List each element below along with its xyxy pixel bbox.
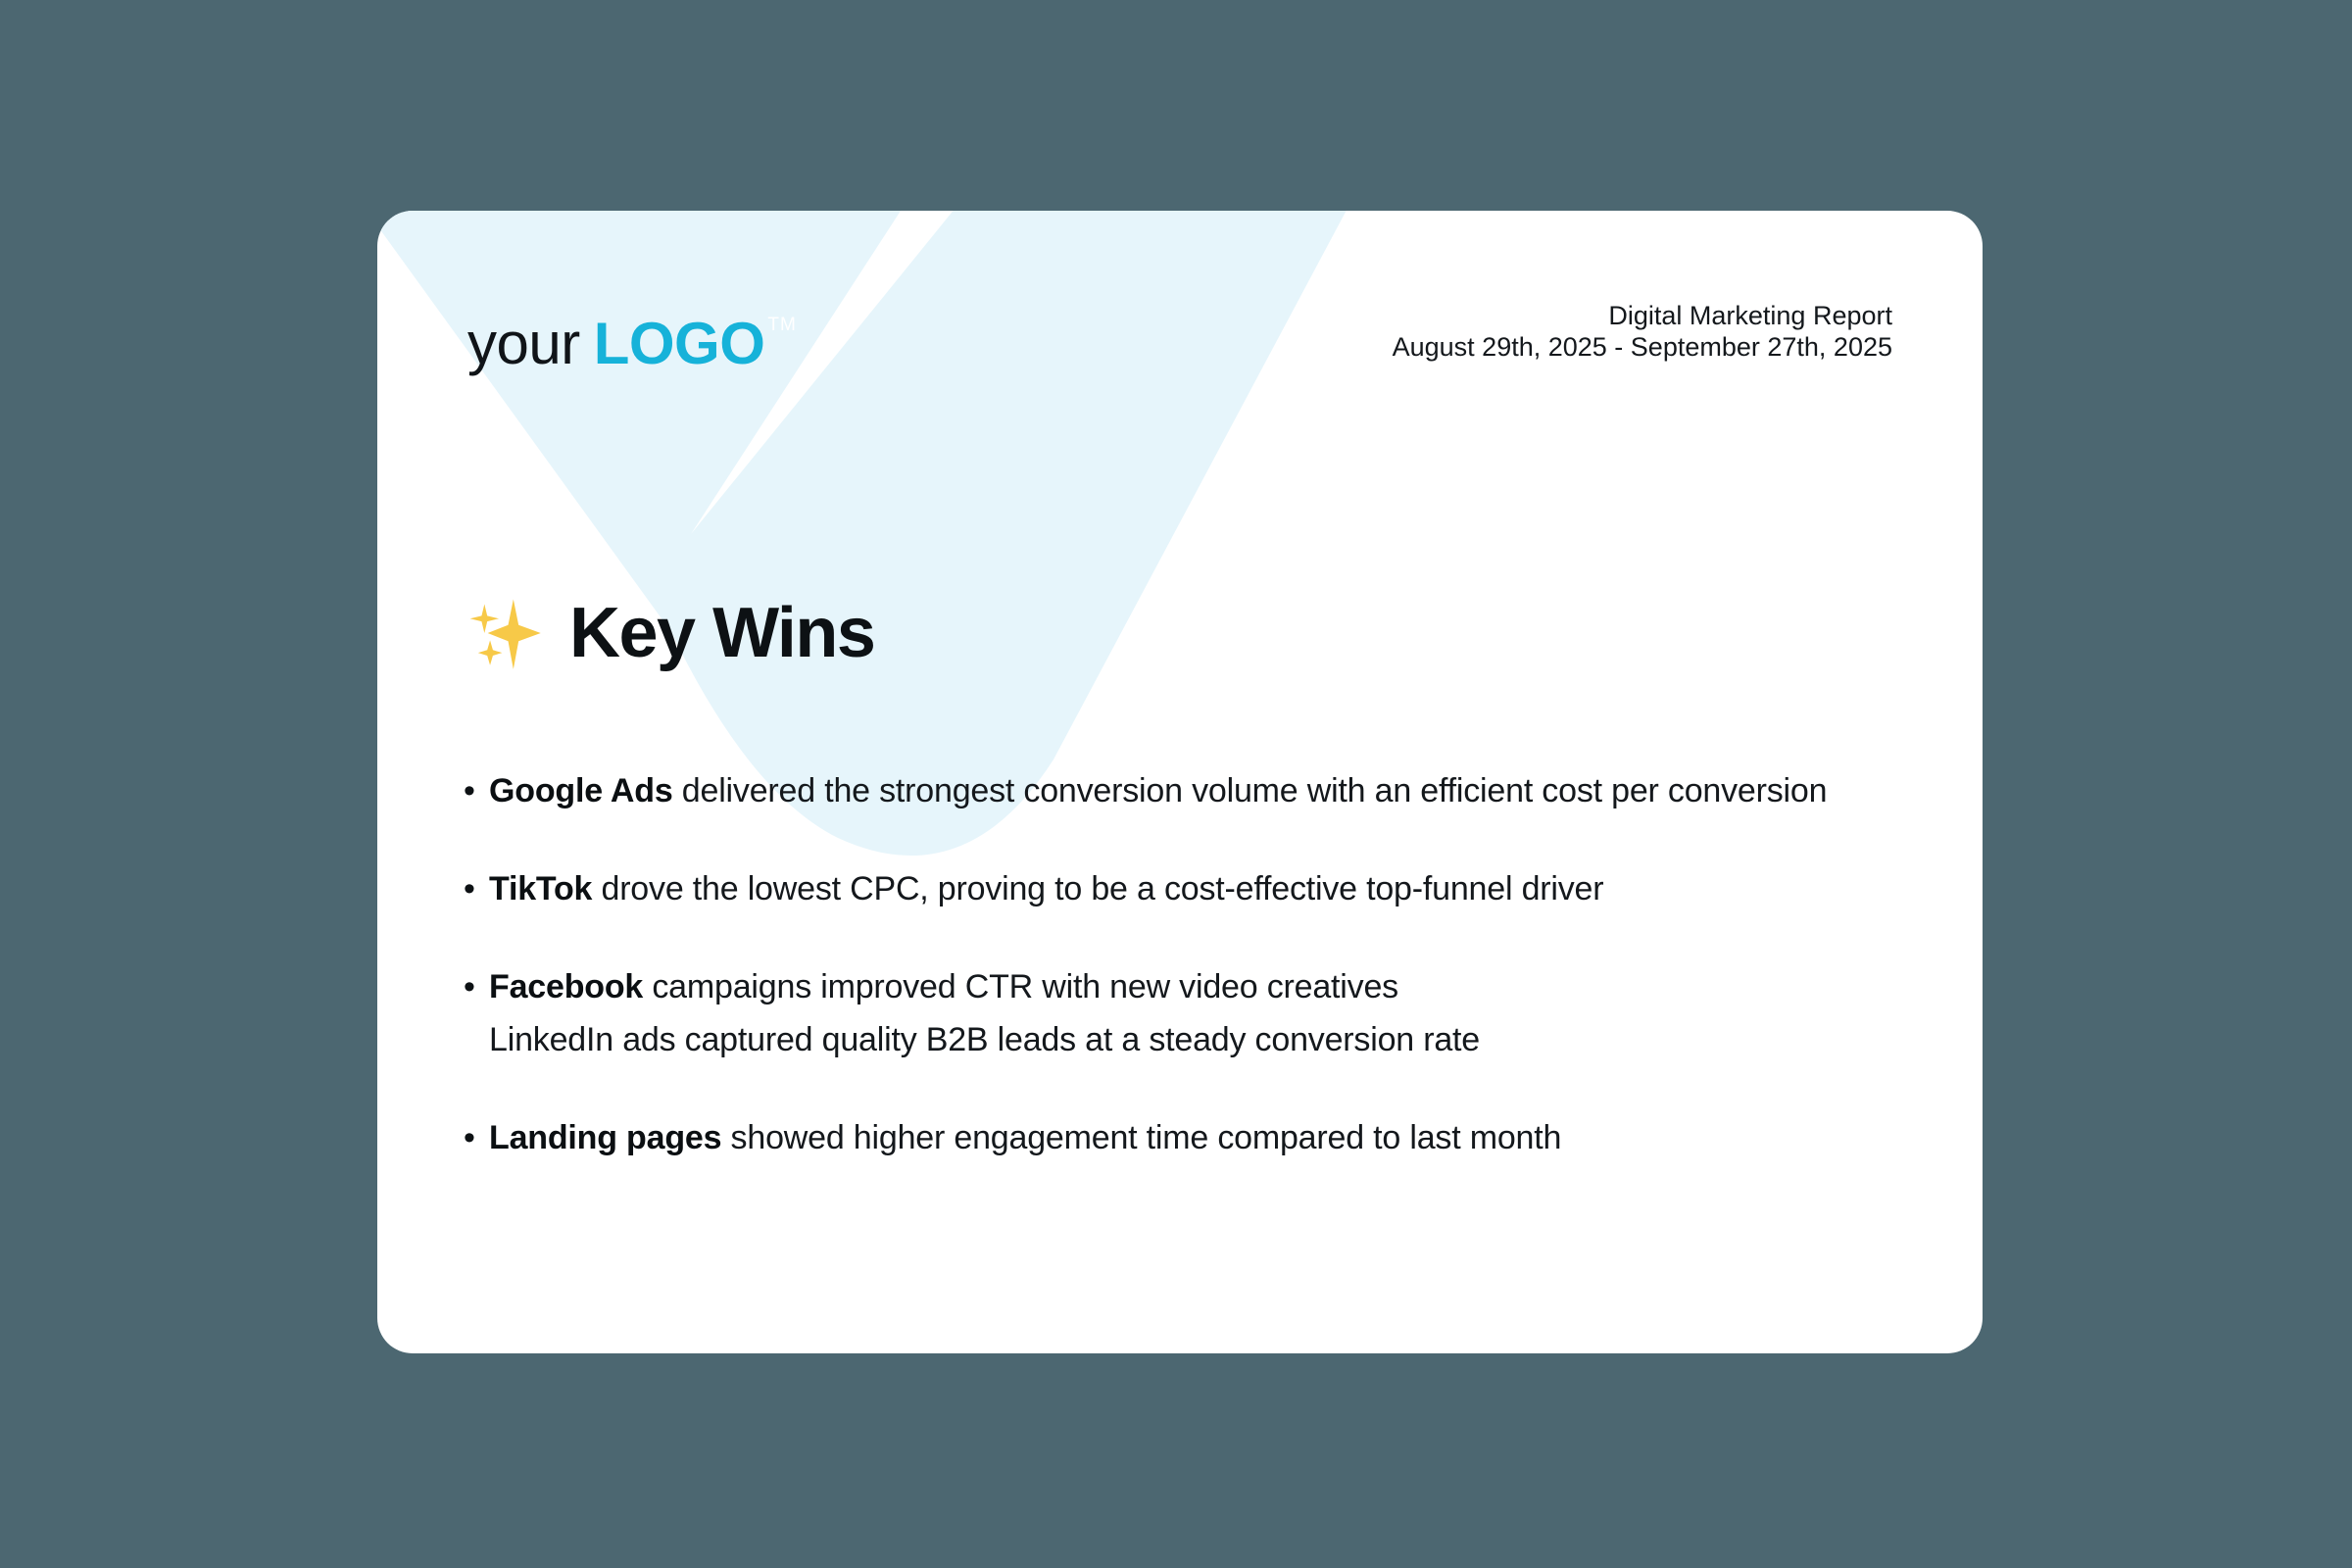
- list-item-text: Landing pages showed higher engagement t…: [489, 1111, 1561, 1164]
- list-item: • Landing pages showed higher engagement…: [464, 1111, 1898, 1164]
- brand-logo[interactable]: your LOGO TM: [467, 297, 797, 373]
- logo-word-your: your: [467, 315, 580, 373]
- list-item: • Facebook campaigns improved CTR with n…: [464, 960, 1898, 1066]
- list-item: • TikTok drove the lowest CPC, proving t…: [464, 862, 1898, 915]
- list-item-text: Google Ads delivered the strongest conve…: [489, 764, 1827, 817]
- list-item-rest: delivered the strongest conversion volum…: [673, 772, 1828, 809]
- list-item-secondary-line: LinkedIn ads captured quality B2B leads …: [489, 1013, 1480, 1066]
- list-item-lead: Facebook: [489, 968, 643, 1005]
- bullet-marker: •: [464, 862, 489, 915]
- report-title: Digital Marketing Report: [1393, 301, 1892, 332]
- list-item-text: TikTok drove the lowest CPC, proving to …: [489, 862, 1603, 915]
- report-date-range: August 29th, 2025 - September 27th, 2025: [1393, 332, 1892, 364]
- bullet-marker: •: [464, 1111, 489, 1164]
- list-item-text: Facebook campaigns improved CTR with new…: [489, 960, 1480, 1066]
- list-item-lead: TikTok: [489, 870, 592, 907]
- logo-trademark: TM: [767, 316, 796, 334]
- key-wins-list: • Google Ads delivered the strongest con…: [464, 764, 1898, 1164]
- list-item-rest: campaigns improved CTR with new video cr…: [643, 968, 1398, 1005]
- list-item-lead: Landing pages: [489, 1119, 721, 1156]
- list-item: • Google Ads delivered the strongest con…: [464, 764, 1898, 817]
- list-item-rest: showed higher engagement time compared t…: [721, 1119, 1561, 1156]
- slide-card: your LOGO TM Digital Marketing Report Au…: [377, 211, 1983, 1353]
- list-item-rest: drove the lowest CPC, proving to be a co…: [592, 870, 1603, 907]
- page-title-text: Key Wins: [569, 598, 874, 668]
- sparkles-icon: [464, 593, 544, 673]
- bullet-marker: •: [464, 960, 489, 1013]
- page-title: Key Wins: [464, 593, 874, 673]
- list-item-lead: Google Ads: [489, 772, 673, 809]
- report-meta: Digital Marketing Report August 29th, 20…: [1393, 297, 1892, 364]
- logo-word-logo: LOGO: [594, 315, 765, 373]
- bullet-marker: •: [464, 764, 489, 817]
- card-header: your LOGO TM Digital Marketing Report Au…: [467, 297, 1892, 424]
